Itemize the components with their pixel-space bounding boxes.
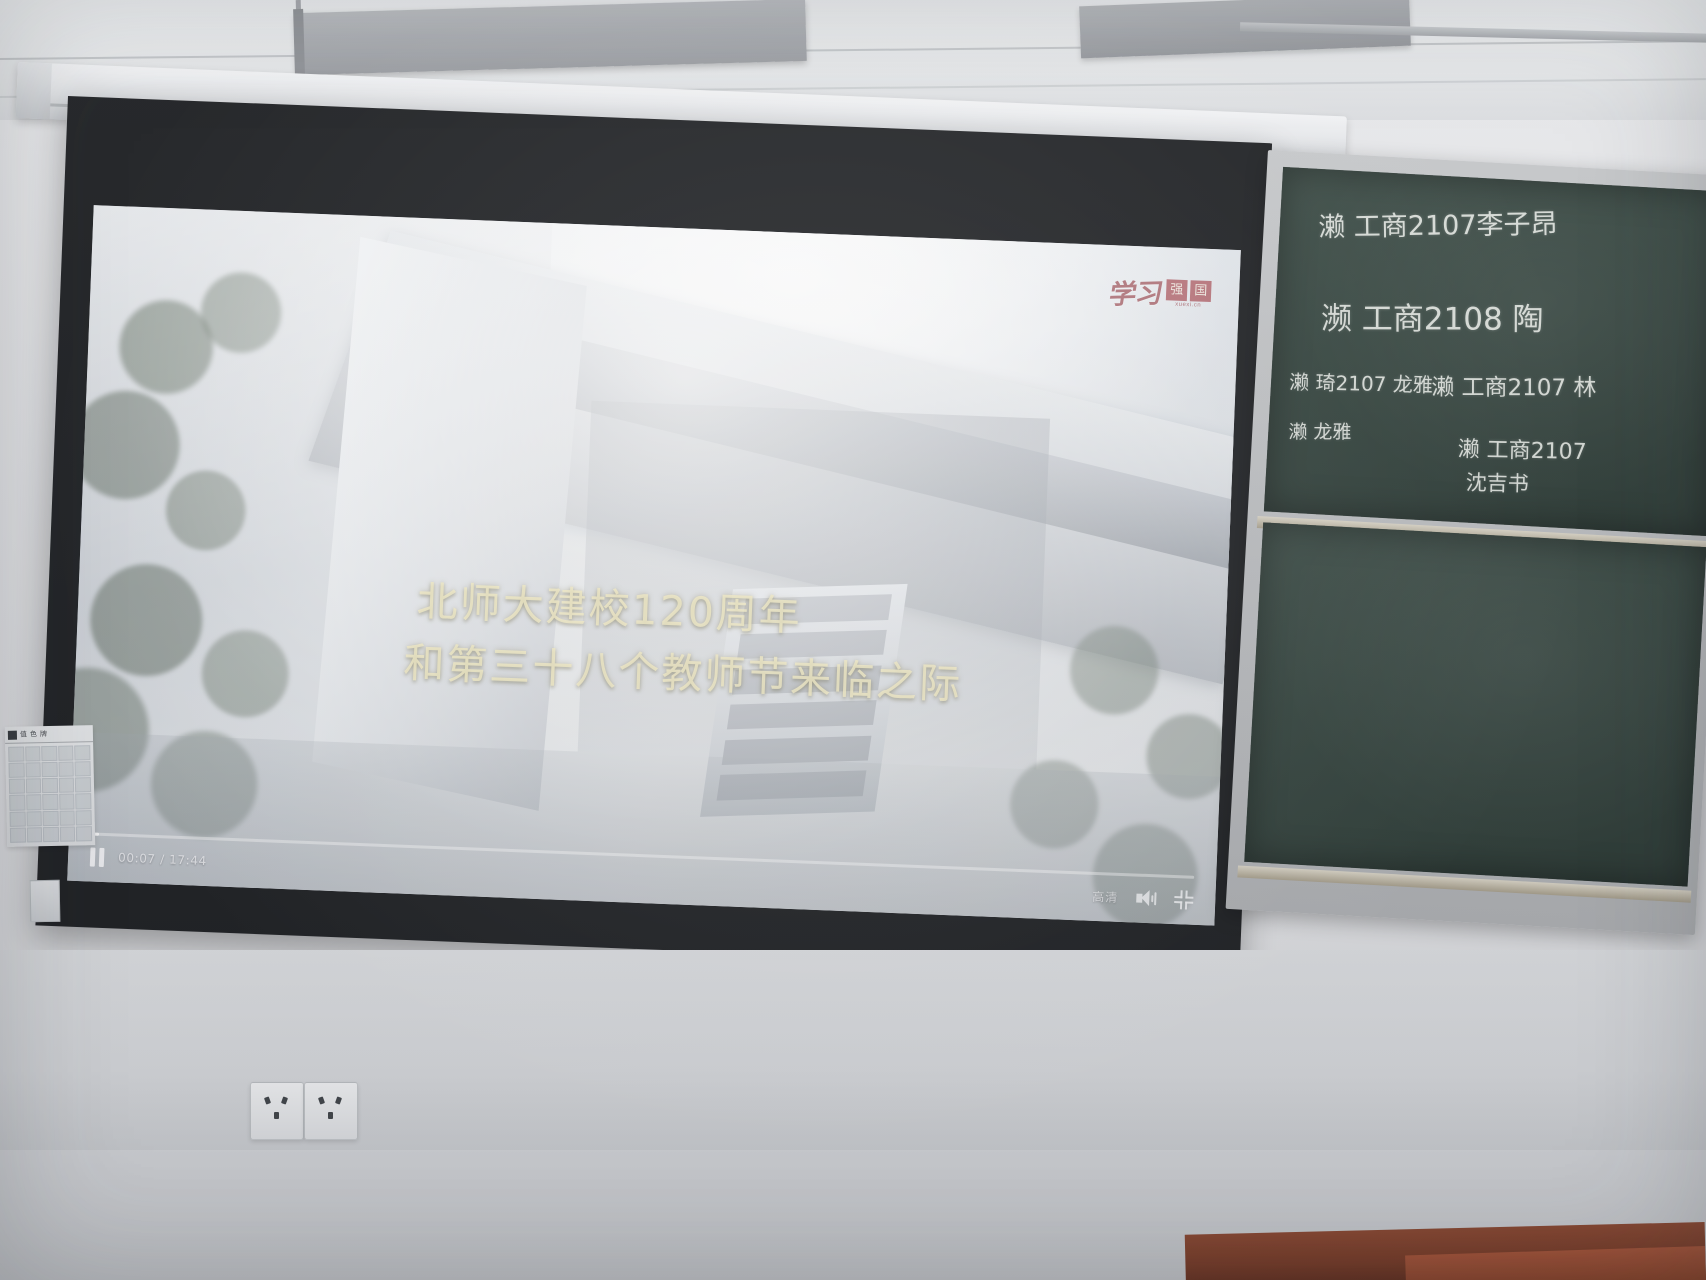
time-display: 00:07 / 17:44 <box>118 851 207 868</box>
blackboard-upper-panel: 濑 工商2107李子昂 濒 工商2108 陶 濑 琦2107 龙雅 濑 工商21… <box>1264 167 1706 536</box>
watermark-script-text: 学习 <box>1107 271 1166 311</box>
poster-header-left: 值 <box>20 729 27 739</box>
video-surface[interactable]: 学习 强 国 xuexi.cn 北师大建校120周年 和第三十八个教师节来临之际 <box>67 205 1241 926</box>
watermark-block-group: 强 国 xuexi.cn <box>1166 279 1212 309</box>
classroom-scene: 学习 强 国 xuexi.cn 北师大建校120周年 和第三十八个教师节来临之际 <box>0 0 1706 1280</box>
chalk-line-1: 濑 工商2107李子昂 <box>1318 202 1558 244</box>
watermark-url: xuexi.cn <box>1175 301 1201 308</box>
xuexi-qiangguo-watermark: 学习 强 国 xuexi.cn <box>1109 271 1211 314</box>
wall-notice-poster: 值 色 牌 <box>5 725 95 847</box>
blackboard-lower-panel <box>1244 522 1706 886</box>
chalk-line-7: 濑 龙雅 <box>1288 417 1351 444</box>
pause-icon[interactable] <box>90 847 105 867</box>
power-outlet-left[interactable] <box>250 1082 304 1140</box>
chalk-line-3: 濑 琦2107 龙雅 <box>1289 366 1433 398</box>
poster-header-right: 牌 <box>40 729 47 739</box>
blackboard-assembly: 濑 工商2107李子昂 濒 工商2108 陶 濑 琦2107 龙雅 濑 工商21… <box>1226 150 1706 935</box>
video-picture <box>67 205 1241 926</box>
poster-table-grid <box>8 745 92 843</box>
chalk-line-2: 濒 工商2108 陶 <box>1321 293 1544 339</box>
chalk-line-5: 濑 工商2107 <box>1457 431 1587 466</box>
poster-marker-icon <box>8 730 17 739</box>
housing-end-cap <box>16 62 52 119</box>
watermark-block-1: 强 <box>1166 279 1188 301</box>
speaker-icon[interactable] <box>1136 889 1157 907</box>
chalk-line-6: 沈吉书 <box>1465 467 1529 498</box>
poster-header: 值 色 牌 <box>5 725 93 744</box>
poster-header-mid: 色 <box>30 729 37 739</box>
projector-screen: 学习 强 国 xuexi.cn 北师大建校120周年 和第三十八个教师节来临之际 <box>35 96 1272 973</box>
fixture-end-cap <box>293 9 305 79</box>
quality-selector[interactable]: 高清 <box>1092 887 1119 905</box>
wall-switch-plate[interactable] <box>30 880 61 923</box>
chalk-line-4: 濑 工商2107 林 <box>1431 368 1596 403</box>
watermark-block-2: 国 <box>1190 280 1212 302</box>
control-bar-right-group: 高清 <box>1092 886 1194 909</box>
power-outlet-right[interactable] <box>304 1082 358 1140</box>
exit-fullscreen-icon[interactable] <box>1174 890 1194 910</box>
